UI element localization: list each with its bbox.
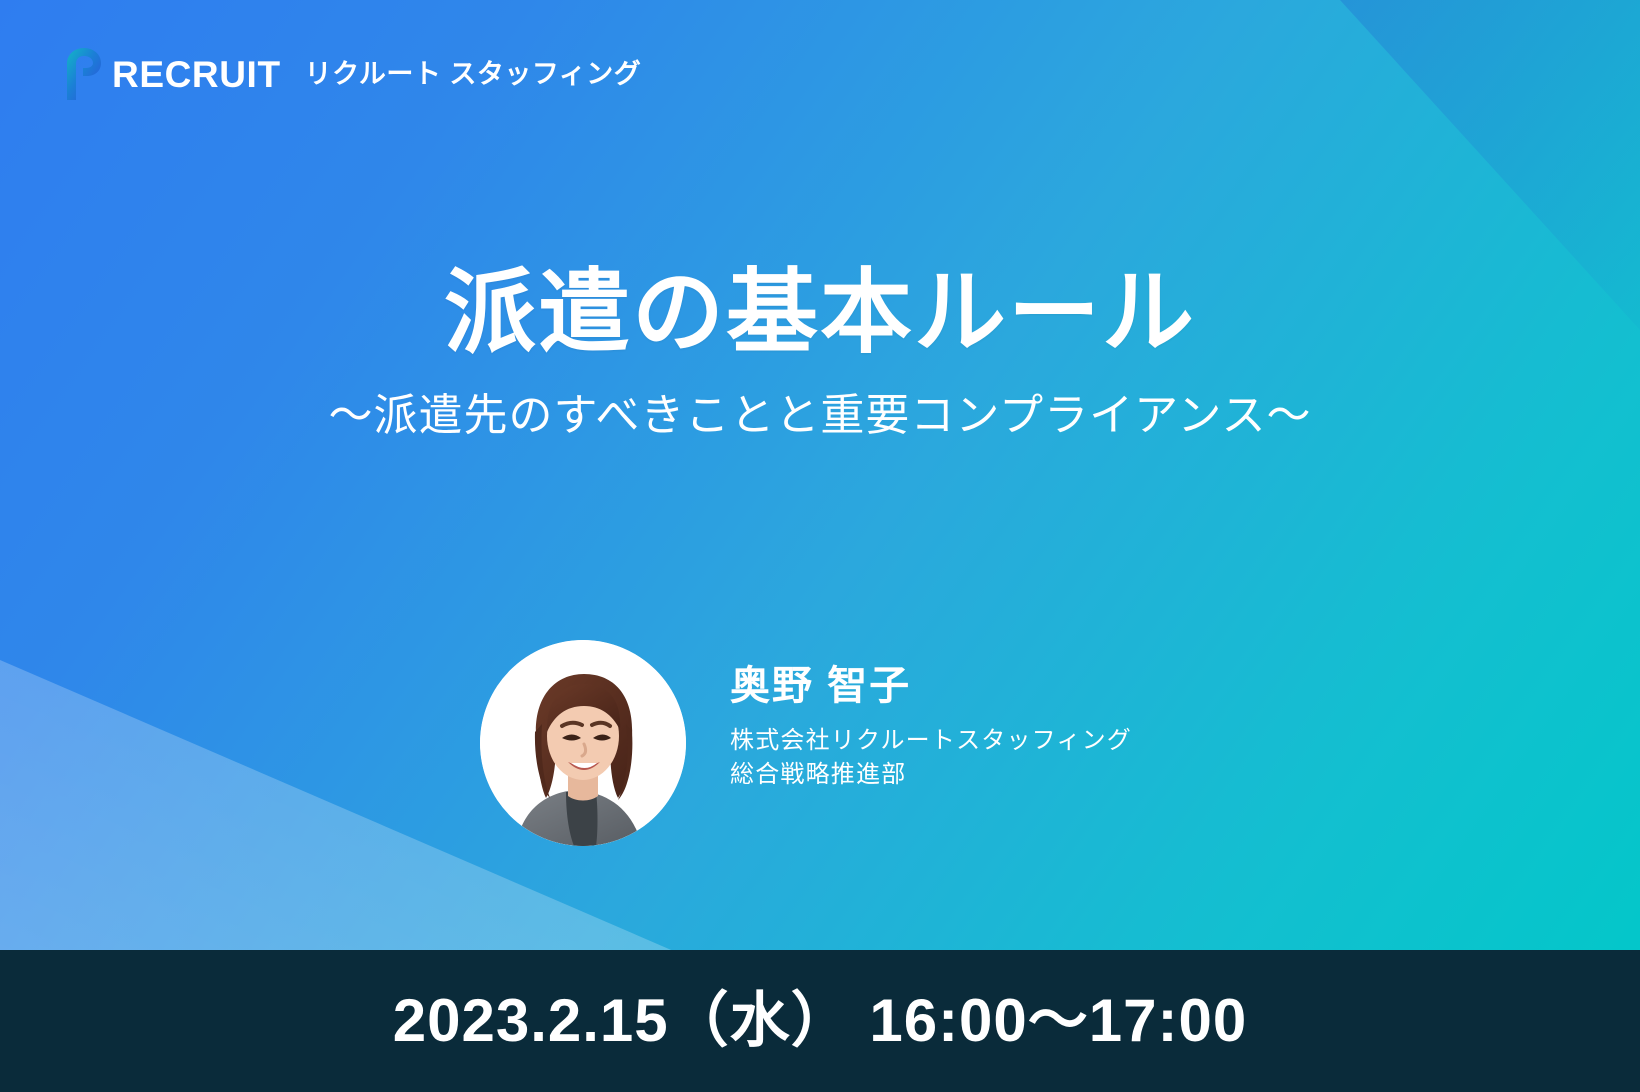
date-footer-bar: 2023.2.15（水） 16:00〜17:00 (0, 950, 1640, 1092)
seminar-title: 派遣の基本ルール (0, 262, 1640, 365)
recruit-hook-logo-icon (58, 47, 102, 101)
webinar-title-slide: RECRUIT リクルート スタッフィング 派遣の基本ルール 〜派遣先のすべきこ… (0, 0, 1640, 1092)
speaker-name: 奥野 智子 (730, 664, 1160, 708)
diagonal-band-decoration (0, 0, 1640, 1092)
speaker-organization: 株式会社リクルートスタッフィング (730, 724, 1160, 758)
logo-wordmark: RECRUIT (112, 56, 281, 93)
recruit-staffing-logo: RECRUIT リクルート スタッフィング (58, 46, 641, 102)
headline-block: 派遣の基本ルール 〜派遣先のすべきことと重要コンプライアンス〜 (0, 262, 1640, 444)
event-datetime: 2023.2.15（水） 16:00〜17:00 (393, 991, 1248, 1051)
speaker-department: 総合戦略推進部 (730, 758, 1160, 792)
seminar-subtitle: 〜派遣先のすべきことと重要コンプライアンス〜 (0, 387, 1640, 444)
logo-service-name: リクルート スタッフィング (305, 61, 642, 88)
speaker-avatar (480, 640, 686, 846)
speaker-block: 奥野 智子 株式会社リクルートスタッフィング 総合戦略推進部 (0, 640, 1640, 846)
speaker-details: 奥野 智子 株式会社リクルートスタッフィング 総合戦略推進部 (730, 640, 1160, 792)
